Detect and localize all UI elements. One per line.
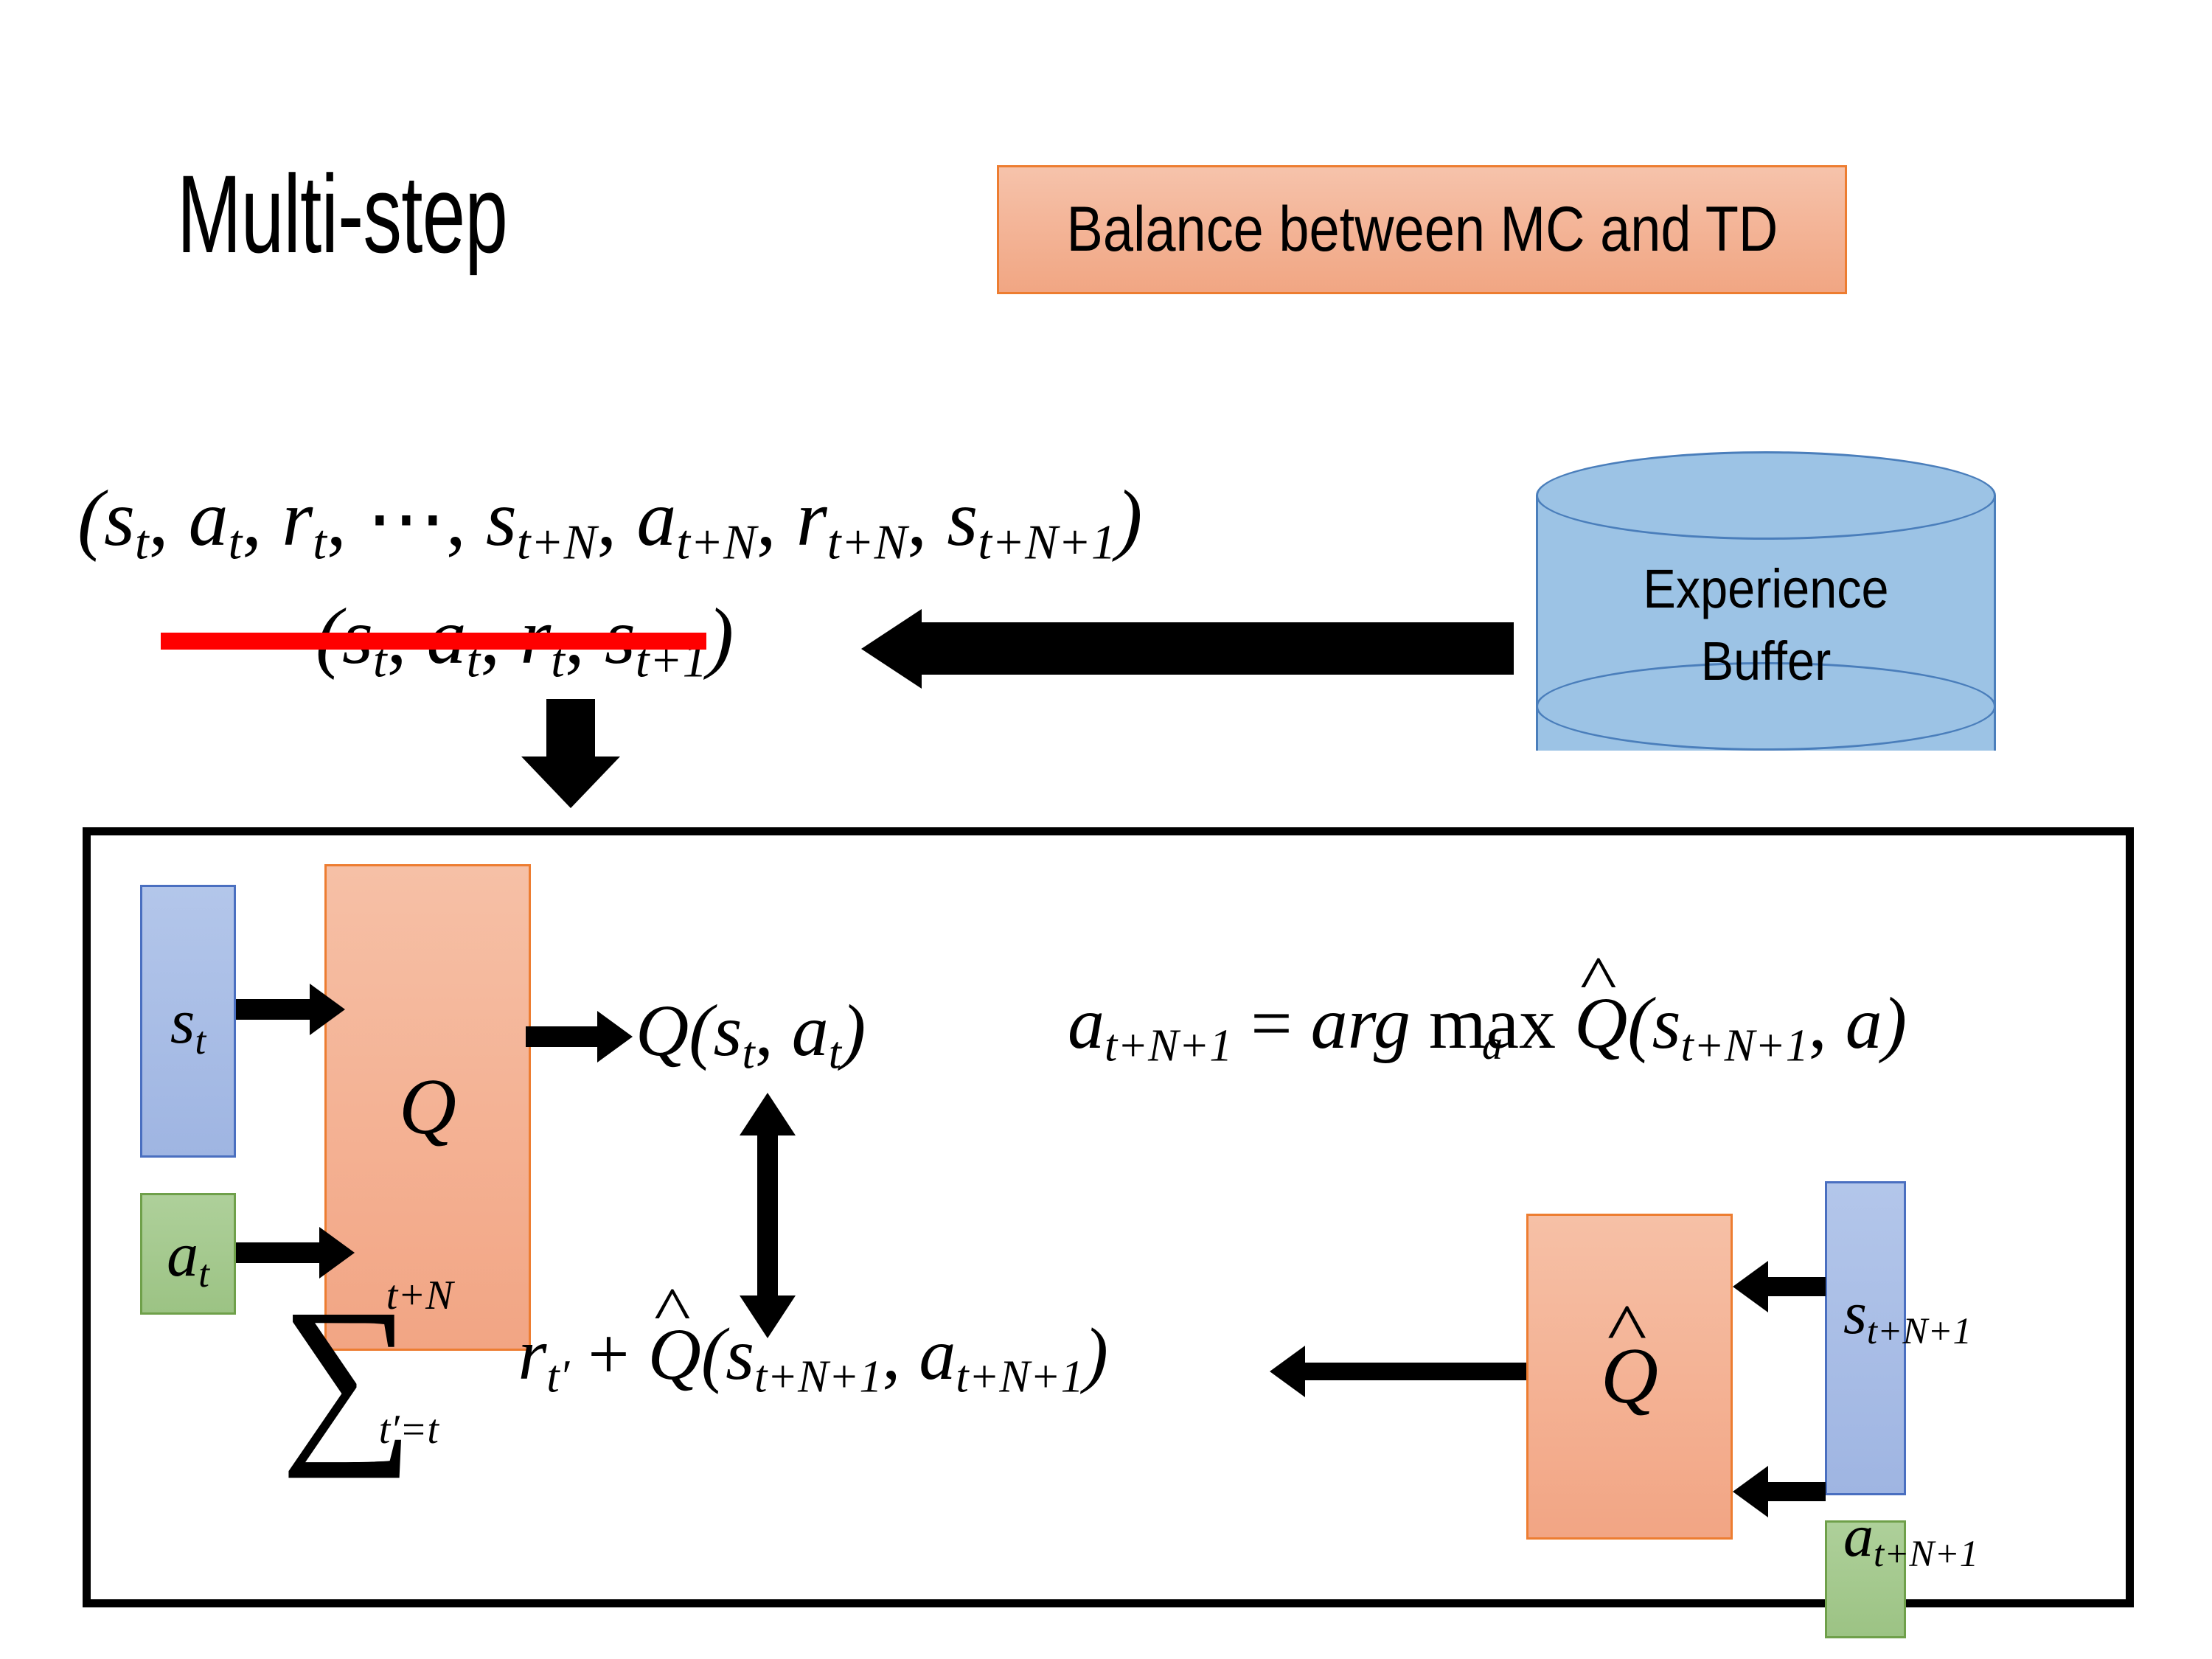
q-to-output-arrow-shaft	[526, 1026, 607, 1047]
qsa-Q: Q	[636, 990, 689, 1071]
sum-plus: +	[569, 1313, 647, 1395]
argmax-action-equation: at+N+1 = arg maxa Q(st+N+1, a)	[1068, 987, 1907, 1060]
tuple-ellipsis: ⋯	[366, 475, 446, 563]
tuple-close-paren: )	[1116, 475, 1142, 563]
action-input-label: at	[167, 1217, 209, 1291]
qsa-comma: ,	[755, 990, 792, 1071]
target-state-to-qhat-arrow-shaft	[1768, 1277, 1826, 1296]
sum-close: )	[1084, 1313, 1108, 1395]
cylinder-top-ellipse	[1536, 451, 1996, 540]
qsa-a: at	[792, 990, 841, 1071]
target-action-input-label: at+N+1	[1843, 1506, 1978, 1566]
tuple-s-tN: st+N	[486, 475, 597, 563]
target-state-to-qhat-arrow-head	[1733, 1261, 1768, 1312]
target-q-network-label: Q	[1601, 1331, 1658, 1422]
qsa-close: )	[841, 990, 866, 1071]
sum-comma: ,	[882, 1313, 919, 1395]
action-input-box: at	[140, 1193, 236, 1315]
slide-canvas: Multi-step Balance between MC and TD (st…	[0, 0, 2212, 1659]
argmax-arg: arg	[1311, 982, 1411, 1064]
sum-r: rt′	[518, 1313, 570, 1395]
argmax-close: )	[1882, 982, 1907, 1064]
tuple-comma: ,	[327, 475, 366, 563]
sum-qhat: Q	[648, 1318, 701, 1391]
sum-space	[481, 1313, 518, 1395]
td-target-equation: ∑t+Nt′=t rt′ + Q(st+N+1, at+N+1)	[280, 1314, 1108, 1430]
tuple-comma: ,	[757, 475, 796, 563]
tuple-s-t: st	[104, 475, 149, 563]
summation-upper-limit: t+N	[386, 1275, 453, 1316]
buffer-to-tuple-arrow-head	[861, 609, 922, 689]
qsa-s: st	[714, 990, 755, 1071]
argmax-s: st+N+1	[1652, 982, 1809, 1064]
argmax-space2	[1556, 982, 1574, 1064]
tuple-a-t: at	[189, 475, 243, 563]
summation-lower-limit: t′=t	[379, 1409, 446, 1450]
argmax-equals: =	[1232, 982, 1310, 1064]
max-subscript: a	[1429, 1025, 1556, 1066]
state-input-box: st	[140, 885, 236, 1158]
loss-double-arrow-shaft	[757, 1124, 778, 1301]
target-state-input-label: st+N+1	[1843, 1283, 1972, 1343]
tuple-r-t: rt	[282, 475, 327, 563]
target-q-network-box: Q	[1526, 1214, 1733, 1540]
action-to-q-arrow-shaft	[236, 1242, 323, 1263]
tuple-s-tN1: st+N+1	[947, 475, 1116, 563]
tuple-comma: ,	[149, 475, 189, 563]
tuple-to-frame-arrow-head	[521, 757, 620, 808]
experience-buffer-label: Experience Buffer	[1536, 553, 1996, 697]
buffer-label-line1: Experience	[1559, 553, 1973, 625]
target-action-to-qhat-arrow-head	[1733, 1466, 1768, 1517]
banner-callout: Balance between MC and TD	[997, 165, 1847, 294]
tuple2-close-paren: )	[707, 593, 734, 681]
sum-s: st+N+1	[726, 1313, 882, 1395]
loss-double-arrow-head-up	[740, 1093, 796, 1135]
one-step-tuple-group: (st, at, rt, st+1)	[316, 597, 734, 677]
page-title: Multi-step	[177, 159, 507, 269]
buffer-label-line2: Buffer	[1559, 625, 1973, 698]
argmax-lhs: at+N+1	[1068, 982, 1232, 1064]
tuple-comma: ,	[242, 475, 282, 563]
argmax-open: (	[1627, 982, 1652, 1064]
qsa-open: (	[689, 990, 713, 1071]
tuple-comma: ,	[907, 475, 947, 563]
argmax-comma: ,	[1809, 982, 1846, 1064]
banner-label: Balance between MC and TD	[1066, 193, 1778, 266]
buffer-to-tuple-arrow-shaft	[920, 622, 1514, 675]
summation-limits: t+Nt′=t	[382, 1321, 449, 1403]
q-to-output-arrow-head	[597, 1011, 633, 1062]
tuple-a-tN: at+N	[636, 475, 756, 563]
red-strikethrough-line	[161, 633, 706, 650]
state-to-q-arrow-shaft	[236, 999, 313, 1020]
argmax-max-operator: maxa	[1429, 987, 1556, 1060]
qhat-to-target-arrow-shaft	[1305, 1363, 1526, 1380]
q-network-label: Q	[399, 1062, 456, 1153]
sum-a: at+N+1	[919, 1313, 1083, 1395]
argmax-qhat: Q	[1574, 987, 1627, 1060]
state-to-q-arrow-head	[310, 984, 345, 1035]
state-input-label: st	[170, 984, 206, 1058]
sum-open: (	[701, 1313, 726, 1395]
argmax-a: a	[1846, 982, 1882, 1064]
tuple-open-paren: (	[77, 475, 104, 563]
experience-buffer-cylinder: Experience Buffer	[1536, 451, 1996, 795]
qhat-to-target-arrow-head	[1270, 1346, 1305, 1397]
n-step-transition-tuple: (st, at, rt, ⋯, st+N, at+N, rt+N, st+N+1…	[77, 479, 1142, 559]
tuple-comma: ,	[446, 475, 486, 563]
tuple-comma: ,	[597, 475, 636, 563]
tuple-r-tN: rt+N	[796, 475, 907, 563]
q-value-expression: Q(st, at)	[636, 994, 866, 1068]
argmax-space	[1411, 982, 1429, 1064]
target-action-to-qhat-arrow-shaft	[1768, 1482, 1826, 1501]
